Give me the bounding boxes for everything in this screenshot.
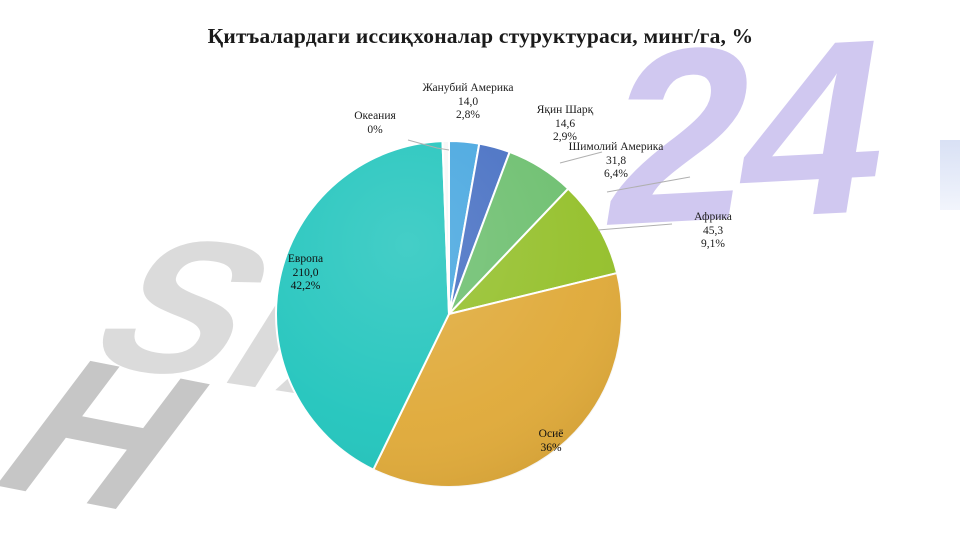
label-near-east: Яқин Шарқ 14,6 2,9% <box>520 104 610 145</box>
pie-chart <box>0 0 961 540</box>
label-europe-name: Европа <box>268 253 343 267</box>
label-asia-name: Осиё <box>521 428 581 442</box>
label-north-america-name: Шимолий Америка <box>551 141 681 155</box>
label-north-america-percent: 6,4% <box>551 168 681 182</box>
label-south-america: Жанубий Америка 14,0 2,8% <box>408 82 528 123</box>
label-south-america-percent: 2,8% <box>408 109 528 123</box>
label-oceania: Океания 0% <box>340 110 410 137</box>
label-oceania-name: Океания <box>340 110 410 124</box>
label-near-east-name: Яқин Шарқ <box>520 104 610 118</box>
label-north-america: Шимолий Америка 31,8 6,4% <box>551 141 681 182</box>
label-asia: Осиё 36% <box>521 428 581 455</box>
label-south-america-value: 14,0 <box>408 96 528 110</box>
label-europe-percent: 42,2% <box>268 280 343 294</box>
label-africa-percent: 9,1% <box>678 238 748 252</box>
slide-canvas: SIA H 24 Қитъалардаги иссиқхоналар стуру… <box>0 0 961 540</box>
label-europe: Европа 210,0 42,2% <box>268 253 343 294</box>
label-africa-value: 45,3 <box>678 225 748 239</box>
label-south-america-name: Жанубий Америка <box>408 82 528 96</box>
label-oceania-percent: 0% <box>340 124 410 138</box>
label-near-east-value: 14,6 <box>520 118 610 132</box>
label-africa-name: Африка <box>678 211 748 225</box>
label-africa: Африка 45,3 9,1% <box>678 211 748 252</box>
label-north-america-value: 31,8 <box>551 155 681 169</box>
label-europe-value: 210,0 <box>268 267 343 281</box>
label-asia-percent: 36% <box>521 442 581 456</box>
leader-line-africa <box>598 224 672 230</box>
